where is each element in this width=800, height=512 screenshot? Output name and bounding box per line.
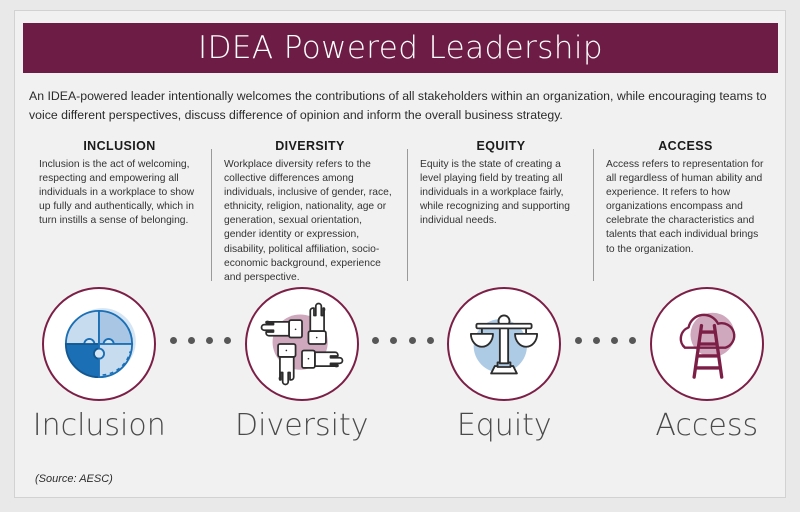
node-equity: Equity — [434, 287, 575, 442]
node-label-inclusion: Inclusion — [33, 409, 166, 442]
connector-dots — [575, 337, 637, 344]
connector-dots — [170, 337, 232, 344]
column-title-equity: EQUITY — [420, 139, 582, 153]
node-label-diversity: Diversity — [235, 409, 368, 442]
node-label-equity: Equity — [457, 409, 552, 442]
icon-ring-access — [650, 287, 764, 401]
column-title-access: ACCESS — [606, 139, 765, 153]
icon-ring-diversity — [245, 287, 359, 401]
node-inclusion: Inclusion — [29, 287, 170, 442]
definition-column-equity: EQUITY Equity is the state of creating a… — [408, 139, 594, 285]
infographic-card: IDEA Powered Leadership An IDEA-powered … — [14, 10, 786, 498]
node-diversity: Diversity — [232, 287, 373, 442]
four-hands-icon — [256, 298, 348, 390]
column-body-diversity: Workplace diversity refers to the collec… — [224, 158, 396, 285]
connector-dot — [593, 337, 600, 344]
column-body-access: Access refers to representation for all … — [606, 158, 765, 257]
balance-scale-icon — [458, 298, 550, 390]
node-access: Access — [637, 287, 778, 442]
connector-dot — [188, 337, 195, 344]
connector-dot — [170, 337, 177, 344]
connector-dot — [427, 337, 434, 344]
icon-ring-equity — [447, 287, 561, 401]
header-banner: IDEA Powered Leadership — [23, 23, 778, 73]
ladder-cloud-icon — [661, 298, 753, 390]
icon-row: Inclusion — [29, 287, 777, 437]
definition-columns: INCLUSION Inclusion is the act of welcom… — [27, 139, 777, 285]
source-caption: (Source: AESC) — [35, 473, 113, 485]
connector-dot — [629, 337, 636, 344]
puzzle-circle-icon — [53, 298, 145, 390]
connector-dot — [409, 337, 416, 344]
intro-paragraph: An IDEA-powered leader intentionally wel… — [29, 87, 777, 125]
definition-column-access: ACCESS Access refers to representation f… — [594, 139, 777, 285]
column-title-diversity: DIVERSITY — [224, 139, 396, 153]
page-title: IDEA Powered Leadership — [198, 33, 603, 64]
column-body-equity: Equity is the state of creating a level … — [420, 158, 582, 228]
column-body-inclusion: Inclusion is the act of welcoming, respe… — [39, 158, 200, 228]
connector-dot — [372, 337, 379, 344]
connector-dot — [575, 337, 582, 344]
infographic-page: IDEA Powered Leadership An IDEA-powered … — [0, 0, 800, 512]
connector-dots — [372, 337, 434, 344]
node-label-access: Access — [655, 409, 758, 442]
icon-ring-inclusion — [42, 287, 156, 401]
definition-column-diversity: DIVERSITY Workplace diversity refers to … — [212, 139, 408, 285]
connector-dot — [611, 337, 618, 344]
connector-dot — [390, 337, 397, 344]
connector-dot — [224, 337, 231, 344]
connector-dot — [206, 337, 213, 344]
definition-column-inclusion: INCLUSION Inclusion is the act of welcom… — [27, 139, 212, 285]
column-title-inclusion: INCLUSION — [39, 139, 200, 153]
